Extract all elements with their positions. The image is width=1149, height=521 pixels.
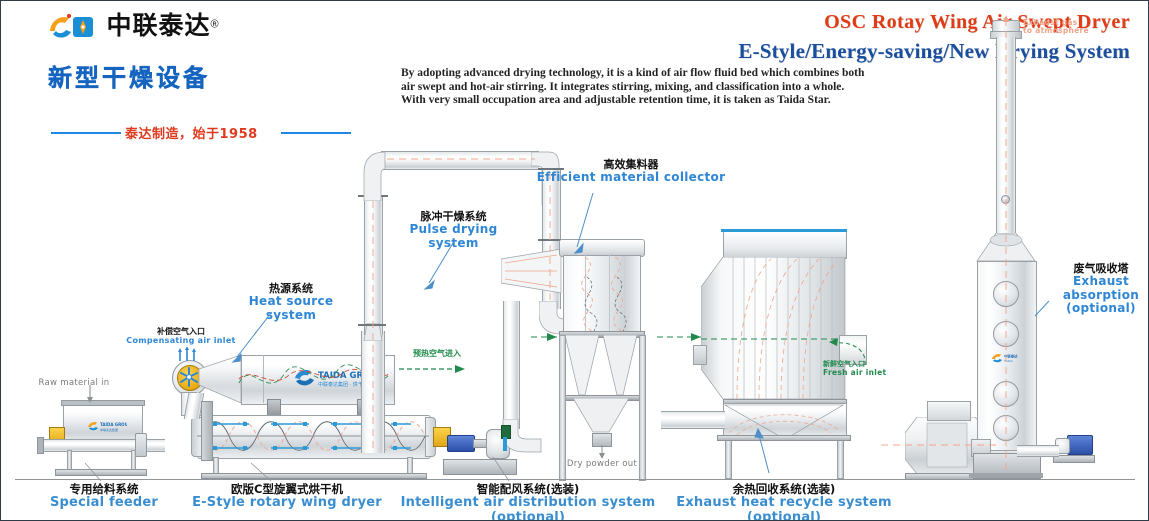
bottom-label-rotary-dryer: 欧版C型旋翼式烘干机 E-Style rotary wing dryer: [181, 483, 393, 511]
fresh-air-en: Fresh air inlet: [823, 369, 899, 377]
description-line-1: By adopting advanced drying technology, …: [401, 67, 981, 81]
collector-discharge-hopper: [573, 398, 629, 436]
pulse-drying-system-label: 脉冲干燥系统 Pulse drying system: [391, 211, 516, 250]
dry-powder-out-label: Dry powder out: [556, 460, 648, 470]
ground-line: [15, 479, 1135, 480]
fresh-air-curve-icon: [827, 337, 869, 365]
recycle-outlet-duct: [661, 411, 725, 429]
feeder-drive-end: [135, 433, 147, 457]
registered-mark: ®: [210, 19, 218, 31]
page-subtitle: E-Style/Energy-saving/New Drying System: [738, 39, 1130, 64]
pump-base: [1053, 455, 1095, 463]
svg-text:TAIDA GROUP: TAIDA GROUP: [100, 422, 127, 427]
preheated-air-arrow-icon: [399, 361, 475, 375]
feeder-inlet-flange: [37, 437, 44, 454]
subtitle-chinese: 新型干燥设备: [48, 58, 210, 93]
absorption-tower-label: 废气吸收塔 Exhaust absorption (optional): [1055, 263, 1147, 316]
pulse-elbow-top-left: [361, 149, 387, 201]
svg-text:中联泰达集团: 中联泰达集团: [100, 427, 118, 432]
absorption-tower: 中联泰达 TAIDA: [961, 15, 1051, 479]
dry-powder-out-text: Dry powder out: [556, 460, 648, 470]
exhaust-gas-label: Exhaust gas to atmosphere: [1023, 19, 1107, 36]
preheated-air-label: 预热空气进入: [399, 350, 475, 359]
pulse-riser-lower: [361, 331, 385, 453]
slogan-banner: 泰达制造，始于1958: [51, 123, 351, 141]
company-logo: 中联泰达®: [47, 9, 297, 43]
bottom-label-air-distribution: 智能配风系统(选装) Intelligent air distribution …: [393, 483, 663, 521]
tower-centreline: [1001, 15, 1011, 477]
recycle-leg-right: [837, 435, 844, 479]
logo-swoosh-icon: [47, 12, 99, 47]
raw-material-in-text: Raw material in: [31, 379, 117, 389]
description-line-3: With very small occupation area and adju…: [401, 94, 981, 108]
exhaust-gas-line-2: to atmosphere: [1023, 27, 1107, 35]
tower-circulation-pump: [1053, 431, 1095, 465]
absorption-en-1: Exhaust: [1055, 275, 1147, 288]
bottom-label-special-feeder: 专用给料系统 Special feeder: [23, 483, 185, 511]
heat-source-en: Heat source system: [231, 295, 351, 322]
slogan-rule-left: [51, 132, 121, 134]
compensating-air-inlet-label: 补偿空气入口 Compensating air inlet: [111, 328, 251, 346]
pulse-top-duct: [381, 151, 539, 170]
air-dist-skid: [443, 459, 517, 475]
bottom-label-heat-recycle: 余热回收系统(选装) Exhaust heat recycle system (…: [659, 483, 909, 521]
diagram-canvas: 中联泰达® 新型干燥设备 泰达制造，始于1958 OSC Rotay Wing …: [0, 0, 1149, 521]
tower-recirc-line: [1017, 445, 1059, 457]
pulse-riser-flange-1: [358, 324, 386, 326]
recycle-base-rail: [717, 435, 851, 441]
recycle-top-plenum: [723, 231, 847, 259]
logo-text: 中联泰达: [106, 11, 210, 40]
dryer-support-bracket: [201, 401, 213, 461]
feeder-brand-decal: TAIDA GROUP 中联泰达集团: [87, 419, 127, 431]
feeder-base-plate: [55, 469, 147, 476]
pulse-riser-taper: [359, 323, 387, 341]
rotary-dryer-en: E-Style rotary wing dryer: [181, 496, 393, 511]
recycle-left-nozzle: [693, 345, 707, 365]
rotary-wing-dryer: [187, 409, 437, 475]
heat-recycle-en: Exhaust heat recycle system (optional): [659, 496, 909, 521]
description-line-2: air swept and hot-air stirring. It integ…: [401, 81, 981, 95]
preheated-air-cn: 预热空气进入: [399, 350, 475, 359]
recycle-leg-left: [725, 435, 732, 479]
recycle-hopper-cone: [723, 403, 845, 439]
collector-en: Efficient material collector: [531, 171, 731, 184]
absorption-en-3: (optional): [1055, 302, 1147, 315]
description-paragraph: By adopting advanced drying technology, …: [401, 67, 981, 108]
air-dist-valve-stem: [503, 437, 507, 451]
feeder-hopper-top-lip: [61, 400, 145, 406]
special-feeder-unit: TAIDA GROUP 中联泰达集团: [35, 393, 165, 473]
air-dist-vertical-duct: [503, 301, 520, 429]
collector-cone-section: [563, 335, 639, 397]
raw-material-in-label: Raw material in: [31, 379, 117, 389]
pump-motor: [1067, 435, 1093, 455]
compensating-air-en: Compensating air inlet: [111, 337, 251, 346]
absorption-en-2: absorption: [1055, 289, 1147, 302]
recycle-body: [701, 257, 867, 399]
air-distribution-en: Intelligent air distribution system (opt…: [393, 496, 663, 521]
material-collector: [551, 239, 651, 479]
slogan-rule-right: [281, 132, 351, 134]
recycle-top-flange: [721, 229, 847, 232]
heat-source-system-label: 热源系统 Heat source system: [231, 283, 351, 322]
special-feeder-en: Special feeder: [23, 496, 185, 511]
pulse-drying-en: Pulse drying system: [391, 223, 516, 250]
material-collector-label: 高效集料器 Efficient material collector: [531, 159, 731, 185]
air-dist-motor: [447, 435, 475, 452]
slogan-text: 泰达制造，始于1958: [125, 123, 258, 142]
dryer-rotor-assembly: [197, 415, 429, 457]
pulse-riser-upper: [364, 197, 383, 335]
